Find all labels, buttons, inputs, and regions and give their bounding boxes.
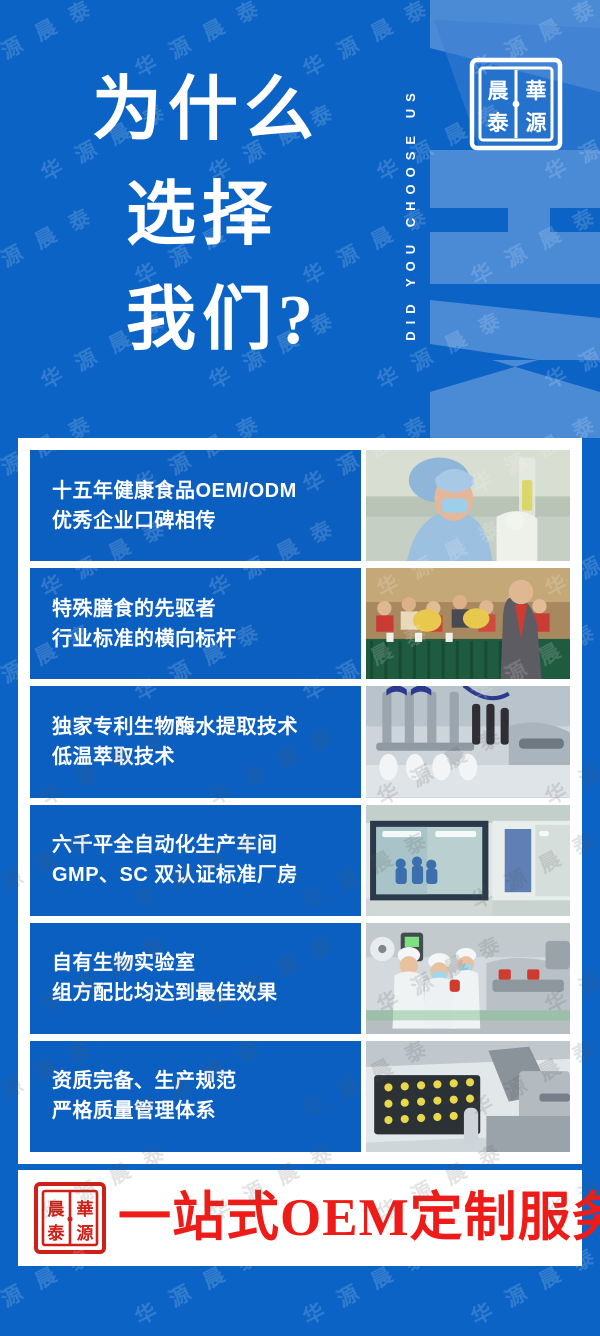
svg-text:源: 源 [77, 1223, 94, 1243]
list-item[interactable]: 自有生物实验室 组方配比均达到最佳效果 [30, 923, 570, 1034]
svg-text:泰: 泰 [48, 1223, 66, 1243]
feature-line-2: 低温萃取技术 [52, 742, 339, 772]
features-list: 十五年健康食品OEM/ODM 优秀企业口碑相传 [30, 450, 570, 1152]
bottom-banner: 晨 泰 華 源 一站式OEM定制服务 [18, 1170, 582, 1266]
poster-header: 为什么 选择 我们? DID YOU CHOOSE US 晨 泰 華 源 [0, 0, 600, 438]
vertical-english-label: DID YOU CHOOSE US [398, 28, 422, 398]
feature-line-2: 组方配比均达到最佳效果 [52, 978, 339, 1008]
svg-text:泰: 泰 [487, 111, 510, 135]
title-line-1: 为什么 [92, 58, 392, 163]
feature-line-1: 独家专利生物酶水提取技术 [52, 712, 339, 742]
title-line-3: 我们? [92, 268, 392, 373]
feature-line-1: 十五年健康食品OEM/ODM [52, 476, 339, 506]
feature-text-block: 十五年健康食品OEM/ODM 优秀企业口碑相传 [30, 450, 361, 561]
feature-photo-conference-audience [366, 568, 570, 679]
brand-seal-icon: 晨 泰 華 源 [466, 52, 566, 156]
feature-line-2: 严格质量管理体系 [52, 1096, 339, 1126]
svg-text:晨: 晨 [488, 79, 510, 103]
brand-seal-red-icon: 晨 泰 華 源 [32, 1180, 108, 1256]
feature-line-1: 自有生物实验室 [52, 948, 339, 978]
vertical-english-text: DID YOU CHOOSE US [403, 86, 418, 341]
feature-text-block: 六千平全自动化生产车间 GMP、SC 双认证标准厂房 [30, 805, 361, 916]
title-line-2: 选择 [92, 163, 392, 268]
feature-photo-tablet-blister-packaging [366, 1041, 570, 1152]
feature-text-block: 自有生物实验室 组方配比均达到最佳效果 [30, 923, 361, 1034]
feature-line-2: 行业标准的横向标杆 [52, 624, 339, 654]
feature-text-block: 独家专利生物酶水提取技术 低温萃取技术 [30, 686, 361, 797]
svg-text:晨: 晨 [48, 1200, 66, 1219]
list-item[interactable]: 六千平全自动化生产车间 GMP、SC 双认证标准厂房 [30, 805, 570, 916]
feature-text-block: 资质完备、生产规范 严格质量管理体系 [30, 1041, 361, 1152]
feature-line-1: 六千平全自动化生产车间 [52, 830, 339, 860]
feature-line-2: 优秀企业口碑相传 [52, 506, 339, 536]
feature-text-block: 特殊膳食的先驱者 行业标准的横向标杆 [30, 568, 361, 679]
feature-line-1: 资质完备、生产规范 [52, 1066, 339, 1096]
svg-text:源: 源 [526, 111, 547, 135]
list-item[interactable]: 资质完备、生产规范 严格质量管理体系 [30, 1041, 570, 1152]
feature-line-1: 特殊膳食的先驱者 [52, 594, 339, 624]
feature-photo-lab-staff-at-production-line [366, 923, 570, 1034]
feature-line-2: GMP、SC 双认证标准厂房 [52, 860, 339, 890]
svg-text:華: 華 [77, 1200, 94, 1219]
poster-root: 为什么 选择 我们? DID YOU CHOOSE US 晨 泰 華 源 [0, 0, 600, 1336]
feature-photo-cleanroom-corridor [366, 805, 570, 916]
feature-photo-filling-machine-nozzles [366, 686, 570, 797]
svg-text:華: 華 [526, 79, 547, 103]
page-title: 为什么 选择 我们? [92, 58, 392, 373]
list-item[interactable]: 十五年健康食品OEM/ODM 优秀企业口碑相传 [30, 450, 570, 561]
features-frame: 十五年健康食品OEM/ODM 优秀企业口碑相传 [18, 438, 582, 1164]
list-item[interactable]: 独家专利生物酶水提取技术 低温萃取技术 [30, 686, 570, 797]
list-item[interactable]: 特殊膳食的先驱者 行业标准的横向标杆 [30, 568, 570, 679]
banner-slogan: 一站式OEM定制服务 [118, 1192, 600, 1245]
feature-photo-technician-inspecting-sample [366, 450, 570, 561]
